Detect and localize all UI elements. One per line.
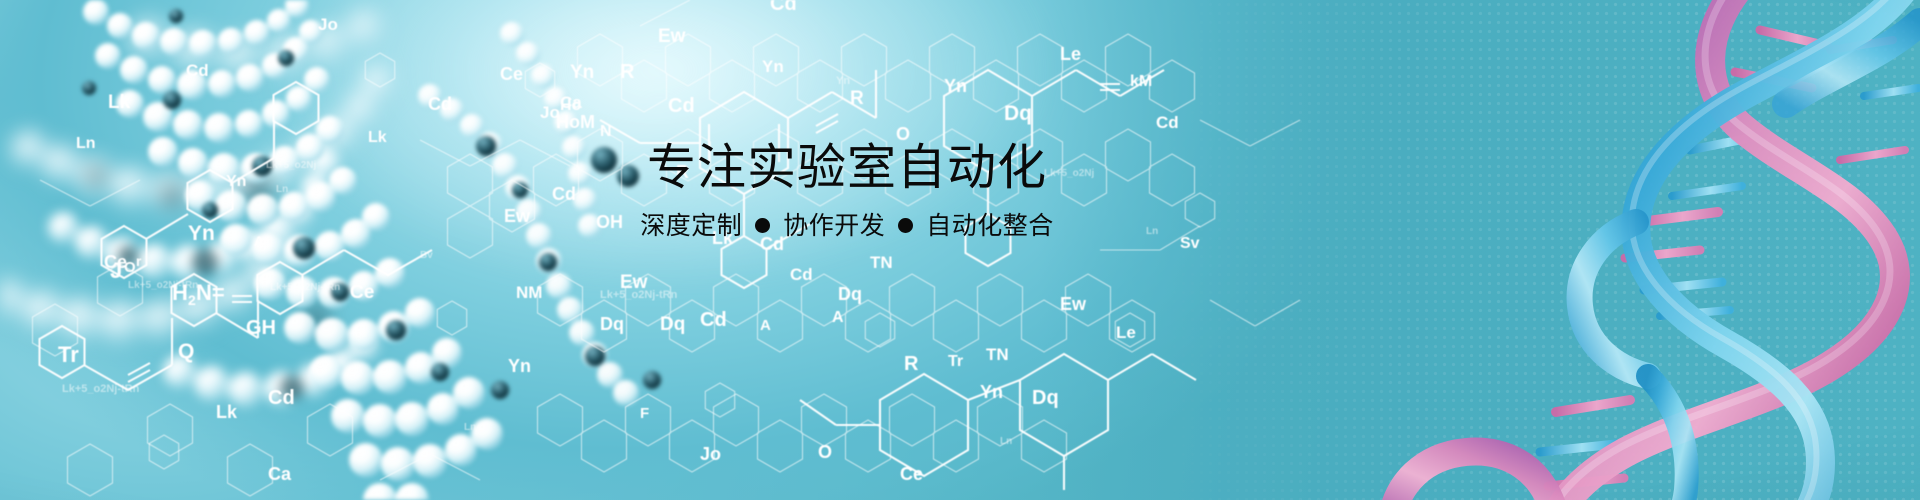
subtitle-item-1: 深度定制	[640, 211, 742, 241]
page-title: 专注实验室自动化	[612, 142, 1082, 195]
hero-subtitle: 深度定制 协作开发 自动化整合	[612, 211, 1082, 241]
hero-banner: .cl{fill:none;stroke:#ffffff;stroke-widt…	[0, 0, 1920, 500]
subtitle-item-3: 自动化整合	[926, 211, 1054, 241]
vignette-overlay	[0, 0, 1920, 500]
bullet-separator-icon	[898, 218, 913, 233]
hero-text-block: 专注实验室自动化 深度定制 协作开发 自动化整合	[612, 142, 1082, 241]
bullet-separator-icon	[755, 218, 770, 233]
subtitle-item-2: 协作开发	[783, 211, 885, 241]
